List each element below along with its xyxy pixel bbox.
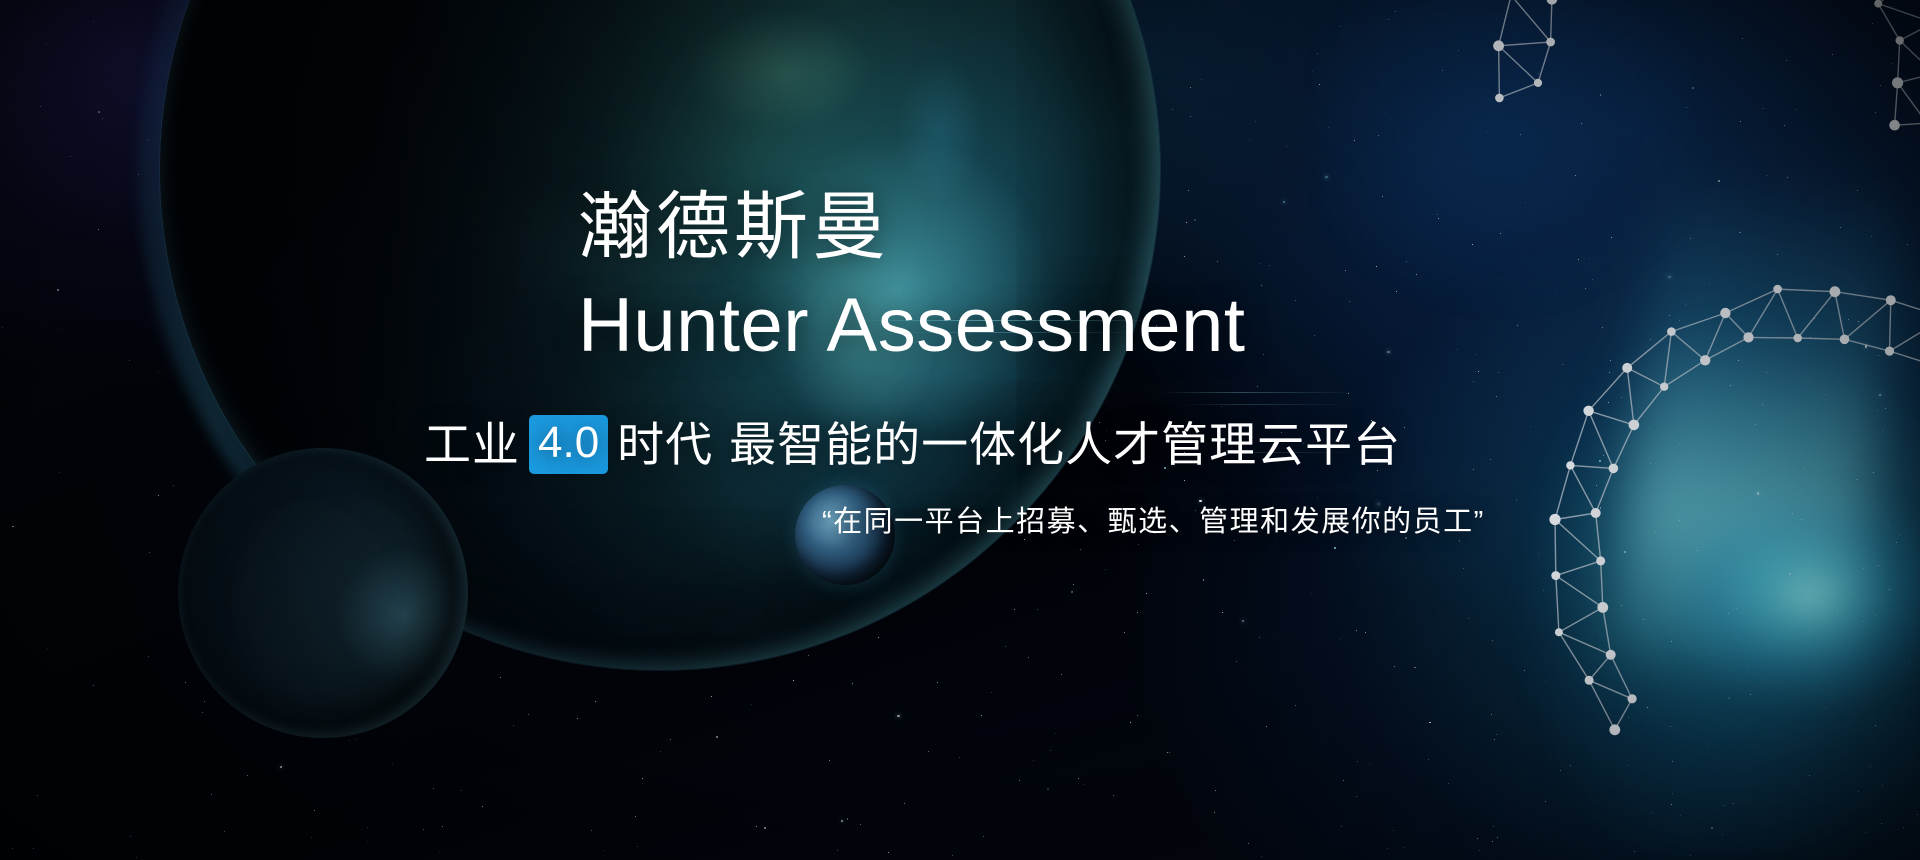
moon-large-rim — [178, 448, 468, 738]
limb-streak — [1210, 452, 1360, 453]
hero-banner: 瀚德斯曼 Hunter Assessment 工业 4.0 时代 最智能的一体化… — [0, 0, 1920, 860]
limb-streak — [860, 320, 1160, 321]
moon-large — [178, 448, 468, 738]
network-ring-bottom-svg — [1490, 240, 1920, 860]
network-ring-bottom — [1490, 240, 1920, 860]
limb-streak — [1160, 392, 1360, 393]
moon-small — [795, 485, 895, 585]
limb-streak — [1180, 404, 1350, 405]
limb-streak — [900, 332, 1140, 333]
